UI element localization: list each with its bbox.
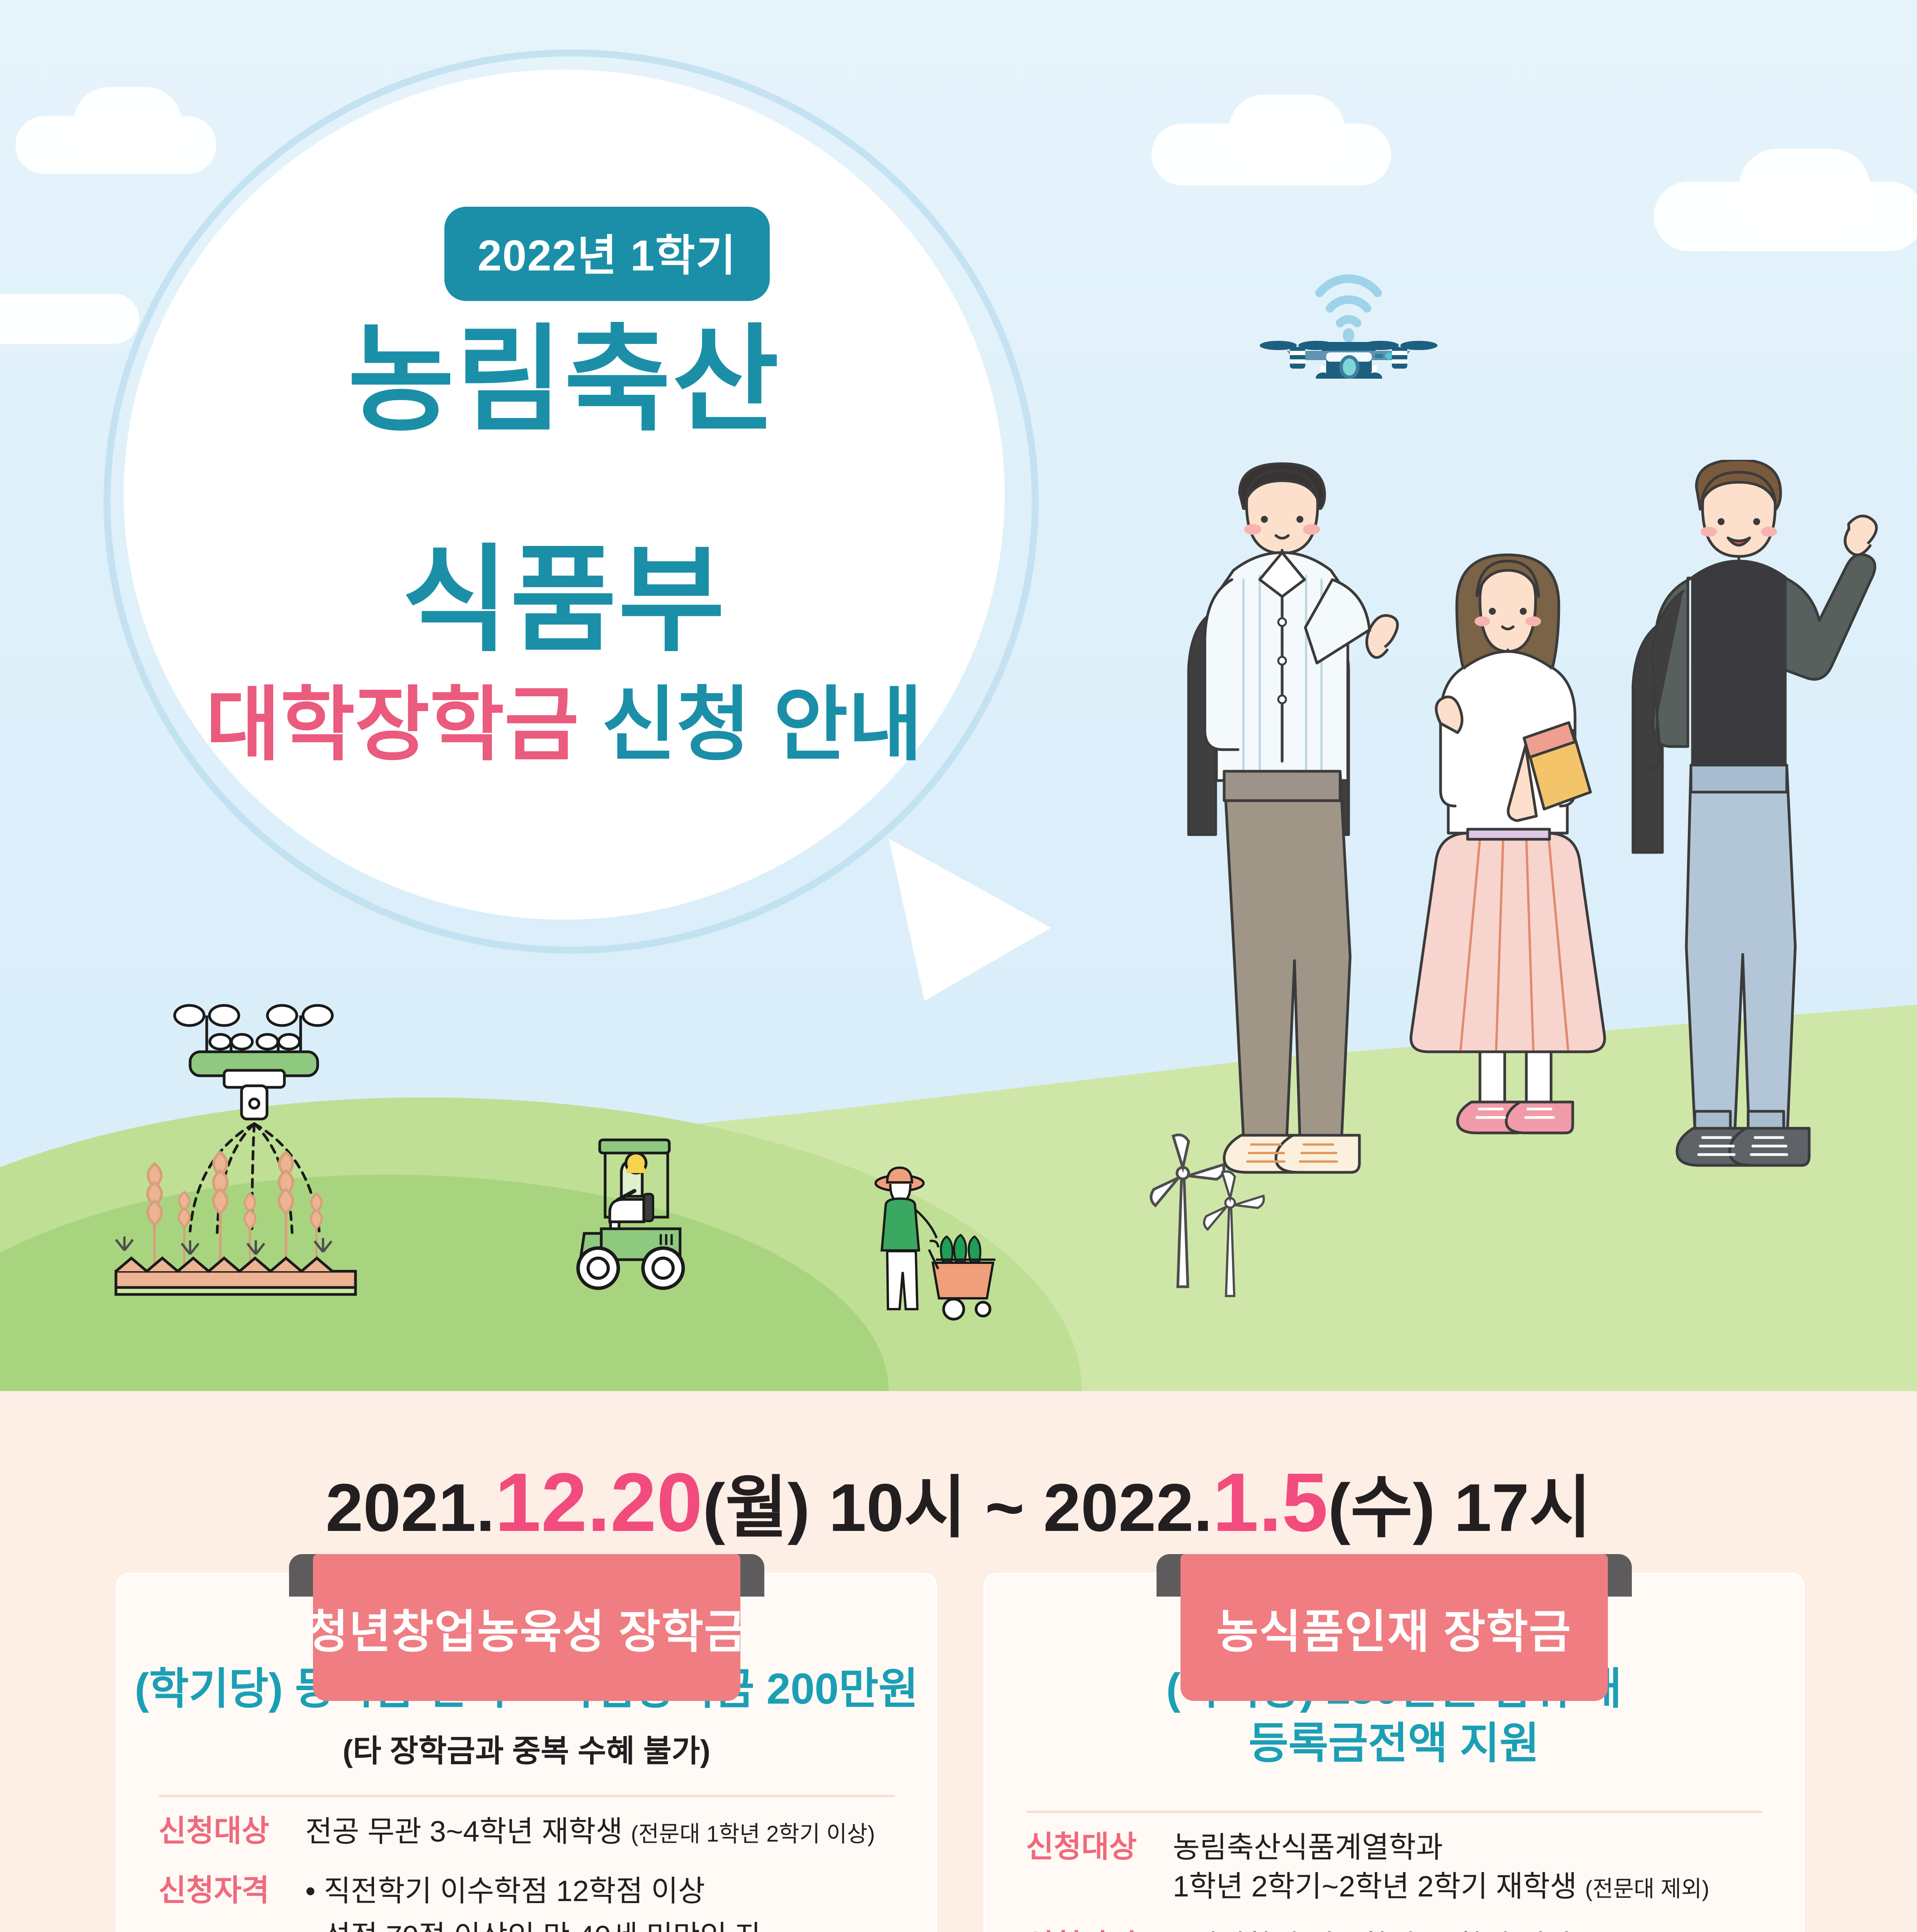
detail-value-line2: 1학년 2학기~2학년 2학기 재학생 xyxy=(1173,1870,1585,1903)
card-detail-rows: 신청대상 농림축산식품계열학과 1학년 2학기~2학년 2학기 재학생 (전문대… xyxy=(983,1828,1805,1932)
scholarship-card-agrifood-talent: 농식품인재 장학금 (학기당) 250만원 범위 내 등록금전액 지원 신청대상… xyxy=(983,1573,1805,1932)
detail-value: 농림축산식품계열학과 1학년 2학기~2학년 2학기 재학생 (전문대 제외) xyxy=(1173,1828,1766,1906)
card-amount-note: (타 장학금과 중복 수혜 불가) xyxy=(116,1726,937,1771)
ribbon-body: 청년창업농육성 장학금 xyxy=(313,1554,740,1701)
application-period: 2021.12.20(월) 10시 ~ 2022.1.5(수) 17시 xyxy=(0,1453,1917,1551)
period-start-date: 12.20 xyxy=(495,1456,703,1549)
card-title: 청년창업농육성 장학금 xyxy=(306,1595,747,1661)
ribbon-fold-right xyxy=(737,1554,764,1597)
speech-bubble-tail xyxy=(889,838,1051,1001)
detail-value: 직전학기 이수학점 12학점 이상 성적 70점 이상인 만 40세 미만인 자 xyxy=(305,1872,898,1932)
card-divider xyxy=(158,1795,895,1797)
detail-value-main: 전공 무관 3~4학년 재학생 xyxy=(305,1815,631,1848)
cloud-icon xyxy=(1229,95,1345,164)
detail-value-note: (전문대 1학년 2학기 이상) xyxy=(631,1821,875,1847)
farmer-illustration xyxy=(850,1159,1016,1321)
speech-bubble xyxy=(124,70,1005,920)
info-panel: 2021.12.20(월) 10시 ~ 2022.1.5(수) 17시 청년창업… xyxy=(0,1391,1917,1932)
scholarship-cards: 청년창업농육성 장학금 (학기당) 등록금 전액 + 학업장려금 200만원 (… xyxy=(116,1573,1805,1932)
period-end-date: 1.5 xyxy=(1213,1456,1328,1549)
card-detail-rows: 신청대상 전공 무관 3~4학년 재학생 (전문대 1학년 2학기 이상) 신청… xyxy=(116,1813,937,1932)
students-illustration xyxy=(1140,460,1897,1294)
poster-title-line1: 농림축산 xyxy=(124,321,1005,439)
card-title: 농식품인재 장학금 xyxy=(1216,1595,1572,1661)
poster-title-line3: 대학장학금 신청 안내 xyxy=(70,680,1059,769)
poster-title-line2: 식품부 xyxy=(124,541,1005,659)
wheat-field-illustration xyxy=(108,1136,502,1306)
title-apply-word: 신청 안내 xyxy=(602,679,923,770)
detail-value-note: (전문대 제외) xyxy=(1585,1876,1709,1901)
detail-key: 신청자격 xyxy=(1026,1927,1173,1932)
cloud-icon xyxy=(1739,149,1870,226)
period-middle: (월) 10시 ~ 2022. xyxy=(703,1470,1213,1546)
semester-badge: 2022년 1학기 xyxy=(444,207,770,301)
ribbon-body: 농식품인재 장학금 xyxy=(1180,1554,1608,1701)
title-scholarship-word: 대학장학금 xyxy=(206,679,579,770)
poster-root: 2022년 1학기 농림축산 식품부 대학장학금 신청 안내 xyxy=(0,0,1917,1932)
cloud-icon xyxy=(0,294,139,344)
detail-value: 직전학기 이수학점 12학점 이상 성적 80점 이상인 자 xyxy=(1173,1927,1766,1932)
detail-row: 신청대상 전공 무관 3~4학년 재학생 (전문대 1학년 2학기 이상) xyxy=(158,1813,898,1851)
detail-row: 신청자격 직전학기 이수학점 12학점 이상 성적 80점 이상인 자 xyxy=(1026,1927,1766,1932)
detail-row: 신청자격 직전학기 이수학점 12학점 이상 성적 70점 이상인 만 40세 … xyxy=(158,1872,898,1932)
card-ribbon: 농식품인재 장학금 xyxy=(1157,1554,1632,1701)
detail-value: 전공 무관 3~4학년 재학생 (전문대 1학년 2학기 이상) xyxy=(305,1813,898,1851)
period-prefix: 2021. xyxy=(326,1470,495,1546)
detail-bullet: 성적 70점 이상인 만 40세 미만인 자 xyxy=(305,1917,898,1932)
illustration-sky-panel: 2022년 1학기 농림축산 식품부 대학장학금 신청 안내 xyxy=(0,0,1917,1391)
card-ribbon: 청년창업농육성 장학금 xyxy=(289,1554,764,1701)
detail-key: 신청대상 xyxy=(158,1813,305,1849)
cloud-icon xyxy=(73,87,182,158)
period-suffix: (수) 17시 xyxy=(1328,1470,1592,1546)
drone-icon xyxy=(1240,247,1457,379)
detail-bullet: 직전학기 이수학점 12학점 이상 xyxy=(305,1872,898,1911)
detail-key: 신청자격 xyxy=(158,1872,305,1909)
tractor-illustration xyxy=(556,1132,726,1294)
detail-key: 신청대상 xyxy=(1026,1828,1173,1865)
detail-value-main: 농림축산식품계열학과 xyxy=(1173,1828,1766,1867)
ribbon-fold-right xyxy=(1604,1554,1632,1597)
detail-row: 신청대상 농림축산식품계열학과 1학년 2학기~2학년 2학기 재학생 (전문대… xyxy=(1026,1828,1766,1906)
detail-bullet: 직전학기 이수학점 12학점 이상 xyxy=(1173,1927,1766,1932)
card-divider xyxy=(1026,1811,1762,1813)
scholarship-card-youth-startup: 청년창업농육성 장학금 (학기당) 등록금 전액 + 학업장려금 200만원 (… xyxy=(116,1573,937,1932)
